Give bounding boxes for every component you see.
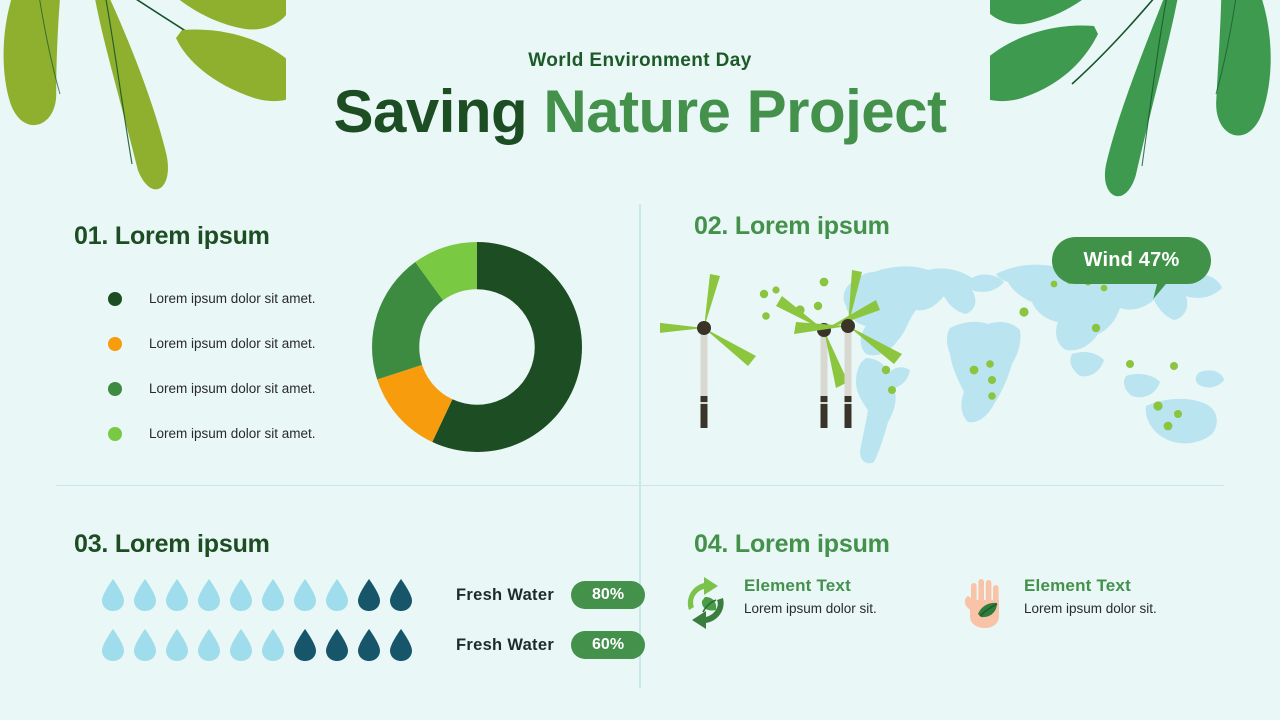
page-title-part-2: Nature Project xyxy=(543,78,946,145)
water-drop-empty xyxy=(228,628,254,662)
eyebrow-text: World Environment Day xyxy=(0,50,1280,72)
water-drop-empty xyxy=(196,578,222,612)
water-drop-empty xyxy=(260,628,286,662)
section-01-title: 01. Lorem ipsum xyxy=(74,222,270,251)
legend-color-swatch xyxy=(108,427,122,441)
legend-color-swatch xyxy=(108,382,122,396)
water-drop-empty xyxy=(164,628,190,662)
panel-section-02: 02. Lorem ipsum xyxy=(640,196,1224,485)
element-title: Element Text xyxy=(744,576,877,596)
panel-section-01: 01. Lorem ipsum Lorem ipsum dolor sit am… xyxy=(56,204,640,485)
list-item[interactable]: Lorem ipsum dolor sit amet. xyxy=(108,321,388,366)
water-drop-empty xyxy=(164,578,190,612)
legend-item-label: Lorem ipsum dolor sit amet. xyxy=(149,336,316,351)
water-row-badge[interactable]: 60% xyxy=(571,631,645,659)
water-drop-empty xyxy=(196,628,222,662)
wind-stat-badge[interactable]: Wind 47% xyxy=(1052,237,1211,284)
donut-chart-svg xyxy=(372,242,582,452)
water-row-label: Fresh Water xyxy=(456,636,554,655)
list-item[interactable]: Lorem ipsum dolor sit amet. xyxy=(108,276,388,321)
element-description: Lorem ipsum dolor sit. xyxy=(1024,601,1157,616)
panel-section-04: 04. Lorem ipsum Element Text Lorem ipsum… xyxy=(640,510,1224,688)
drop-group-row-2 xyxy=(100,628,420,662)
header: World Environment Day Saving Nature Proj… xyxy=(0,50,1280,143)
water-drop-rows: Fresh Water 80% Fresh Water 60% xyxy=(100,570,645,670)
drop-group-row-1 xyxy=(100,578,420,612)
water-drop-empty xyxy=(292,578,318,612)
donut-legend: Lorem ipsum dolor sit amet. Lorem ipsum … xyxy=(108,276,388,456)
page-title: Saving Nature Project xyxy=(0,80,1280,143)
slide-canvas: World Environment Day Saving Nature Proj… xyxy=(0,0,1280,720)
legend-color-swatch xyxy=(108,337,122,351)
water-drop-row: Fresh Water 80% xyxy=(100,570,645,620)
list-item[interactable]: Lorem ipsum dolor sit amet. xyxy=(108,411,388,456)
legend-color-swatch xyxy=(108,292,122,306)
hand-leaf-icon xyxy=(956,574,1014,632)
legend-item-label: Lorem ipsum dolor sit amet. xyxy=(149,291,316,306)
water-row-label: Fresh Water xyxy=(456,586,554,605)
water-row-badge[interactable]: 80% xyxy=(571,581,645,609)
element-text-block: Element Text Lorem ipsum dolor sit. xyxy=(1024,572,1157,616)
water-drop-filled xyxy=(292,628,318,662)
list-item[interactable]: Element Text Lorem ipsum dolor sit. xyxy=(956,572,1236,632)
water-drop-filled xyxy=(388,628,414,662)
water-drop-empty xyxy=(132,628,158,662)
water-drop-filled xyxy=(356,628,382,662)
water-drop-empty xyxy=(100,628,126,662)
section-04-title: 04. Lorem ipsum xyxy=(694,530,890,559)
water-drop-empty xyxy=(132,578,158,612)
wind-badge-label: Wind 47% xyxy=(1052,237,1211,284)
element-title: Element Text xyxy=(1024,576,1157,596)
legend-item-label: Lorem ipsum dolor sit amet. xyxy=(149,381,316,396)
section-03-title: 03. Lorem ipsum xyxy=(74,530,270,559)
divider-horizontal xyxy=(56,485,1224,486)
legend-item-label: Lorem ipsum dolor sit amet. xyxy=(149,426,316,441)
water-drop-row: Fresh Water 60% xyxy=(100,620,645,670)
wind-map-illustration xyxy=(660,254,1224,469)
element-list: Element Text Lorem ipsum dolor sit. xyxy=(676,572,1236,632)
water-drop-filled xyxy=(388,578,414,612)
water-drop-empty xyxy=(100,578,126,612)
water-drop-empty xyxy=(324,578,350,612)
donut-chart[interactable] xyxy=(372,242,582,452)
section-02-title: 02. Lorem ipsum xyxy=(694,212,890,241)
element-text-block: Element Text Lorem ipsum dolor sit. xyxy=(744,572,877,616)
page-title-part-1: Saving xyxy=(333,78,543,145)
water-drop-filled xyxy=(324,628,350,662)
list-item[interactable]: Element Text Lorem ipsum dolor sit. xyxy=(676,572,956,632)
water-drop-filled xyxy=(356,578,382,612)
water-drop-empty xyxy=(260,578,286,612)
water-drop-empty xyxy=(228,578,254,612)
wind-turbine xyxy=(660,274,756,428)
panel-section-03: 03. Lorem ipsum Fresh Water 80% Fresh Wa… xyxy=(56,510,640,688)
list-item[interactable]: Lorem ipsum dolor sit amet. xyxy=(108,366,388,411)
element-description: Lorem ipsum dolor sit. xyxy=(744,601,877,616)
recycle-leaf-icon xyxy=(676,574,734,632)
